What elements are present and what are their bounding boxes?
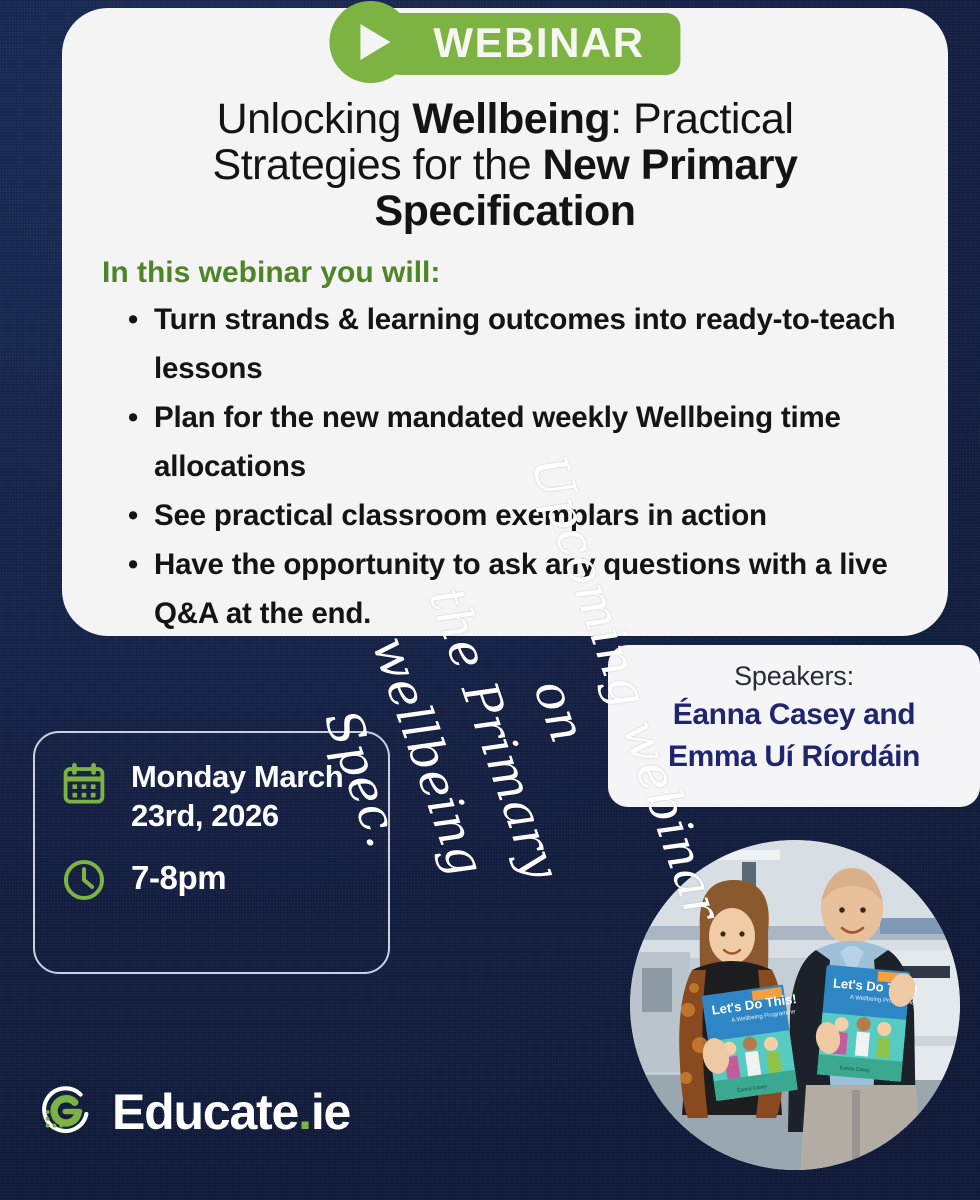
main-content-card: WEBINAR Unlocking Wellbeing: Practical S…: [62, 8, 948, 636]
clock-icon: [61, 853, 111, 908]
speakers-label: Speakers:: [608, 661, 980, 692]
speakers-photo: Let's Do This! A Wellbeing Programme Éan…: [630, 840, 960, 1170]
event-date-row: Monday March 23rd, 2026: [61, 757, 388, 835]
speakers-card: Speakers: Éanna Casey and Emma Uí Ríordá…: [608, 645, 980, 807]
event-date: Monday March 23rd, 2026: [131, 757, 388, 835]
educate-e-logo-icon: [36, 1081, 98, 1143]
calendar-icon: [61, 757, 111, 812]
title-bold-1: Wellbeing: [412, 95, 610, 143]
page-title: Unlocking Wellbeing: Practical Strategie…: [88, 96, 922, 234]
logo-name: Educate: [112, 1084, 298, 1140]
event-time: 7-8pm: [131, 853, 226, 899]
webinar-badge: WEBINAR: [329, 6, 680, 78]
list-item: Plan for the new mandated weekly Wellbei…: [154, 394, 922, 492]
event-time-row: 7-8pm: [61, 853, 388, 908]
list-item: Have the opportunity to ask any question…: [154, 541, 922, 639]
benefits-list: Turn strands & learning outcomes into re…: [88, 296, 922, 639]
webinar-badge-label: WEBINAR: [433, 22, 644, 64]
brand-logo-text: Educate.ie: [112, 1083, 350, 1141]
webinar-badge-tab: WEBINAR: [385, 13, 680, 75]
title-part-1: Unlocking: [217, 95, 413, 143]
section-lead-heading: In this webinar you will:: [88, 256, 922, 290]
speaker-name-line-2: Emma Uí Ríordáin: [608, 738, 980, 776]
logo-tld: ie: [311, 1084, 350, 1140]
brand-logo: Educate.ie: [36, 1081, 350, 1143]
play-icon: [329, 1, 411, 83]
speaker-name-line-1: Éanna Casey and: [608, 696, 980, 734]
list-item: See practical classroom exemplars in act…: [154, 492, 922, 541]
event-datetime-card: Monday March 23rd, 2026 7-8pm: [33, 731, 390, 974]
logo-dot: .: [298, 1084, 311, 1140]
list-item: Turn strands & learning outcomes into re…: [154, 296, 922, 394]
